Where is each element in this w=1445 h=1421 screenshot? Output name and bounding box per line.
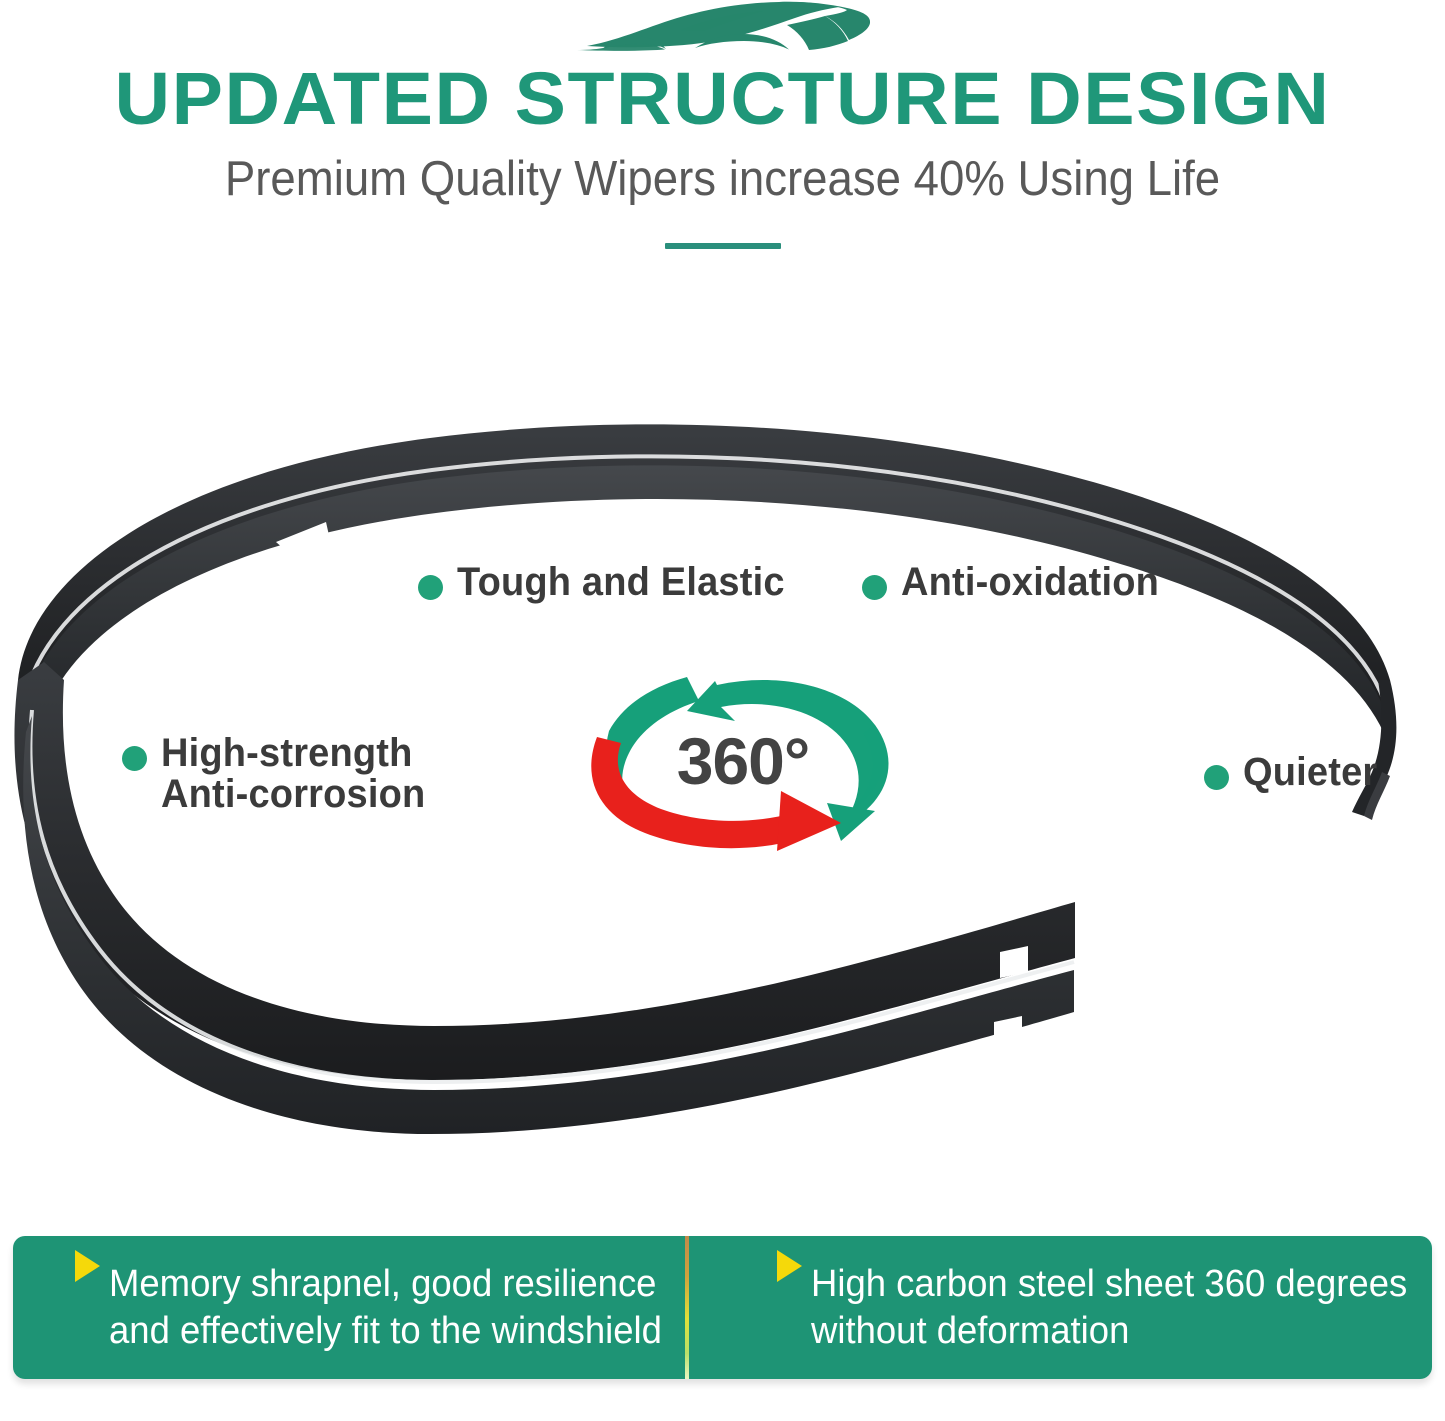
banner-left-line2: and effectively fit to the windshield [109, 1308, 662, 1354]
page-title: UPDATED STRUCTURE DESIGN [0, 62, 1445, 136]
badge-text-wrap: 360° [575, 663, 915, 863]
bullet-dot-icon [122, 746, 147, 771]
banner-right-line1: High carbon steel sheet 360 degrees [811, 1263, 1407, 1305]
badge-360-degrees: 360° [575, 663, 915, 863]
car-silhouette-icon [573, 0, 873, 58]
page-subtitle: Premium Quality Wipers increase 40% Usin… [51, 154, 1395, 205]
feature-label-line2: Anti-corrosion [161, 774, 425, 815]
bullet-dot-icon [1204, 765, 1229, 790]
banner-left-text: Memory shrapnel, good resilienceand effe… [109, 1261, 662, 1354]
triangle-bullet-icon [777, 1250, 802, 1282]
title-divider [665, 243, 781, 249]
bottom-feature-banner: Memory shrapnel, good resilienceand effe… [13, 1236, 1432, 1379]
banner-left-line1: Memory shrapnel, good resilience [109, 1263, 656, 1305]
feature-tough-and-elastic: Tough and Elastic [418, 562, 802, 603]
header: UPDATED STRUCTURE DESIGN Premium Quality… [0, 0, 1445, 249]
feature-label: Anti-oxidation [901, 562, 1159, 603]
feature-quieter: Quieter [1204, 752, 1384, 793]
feature-label-line1: High-strength [161, 731, 413, 775]
feature-anti-oxidation: Anti-oxidation [862, 562, 1173, 603]
feature-high-strength-anti-corrosion: High-strengthAnti-corrosion [122, 733, 439, 815]
feature-label: High-strengthAnti-corrosion [161, 733, 425, 815]
feature-label: Tough and Elastic [457, 562, 785, 603]
banner-right-text: High carbon steel sheet 360 degreeswitho… [811, 1261, 1407, 1354]
banner-right-line2: without deformation [811, 1308, 1407, 1354]
bullet-dot-icon [862, 575, 887, 600]
feature-label: Quieter [1243, 752, 1377, 793]
triangle-bullet-icon [75, 1250, 100, 1282]
banner-panel-left: Memory shrapnel, good resilienceand effe… [13, 1236, 685, 1379]
bullet-dot-icon [418, 575, 443, 600]
badge-value: 360° [677, 723, 810, 799]
banner-panel-right: High carbon steel sheet 360 degreeswitho… [689, 1236, 1432, 1379]
